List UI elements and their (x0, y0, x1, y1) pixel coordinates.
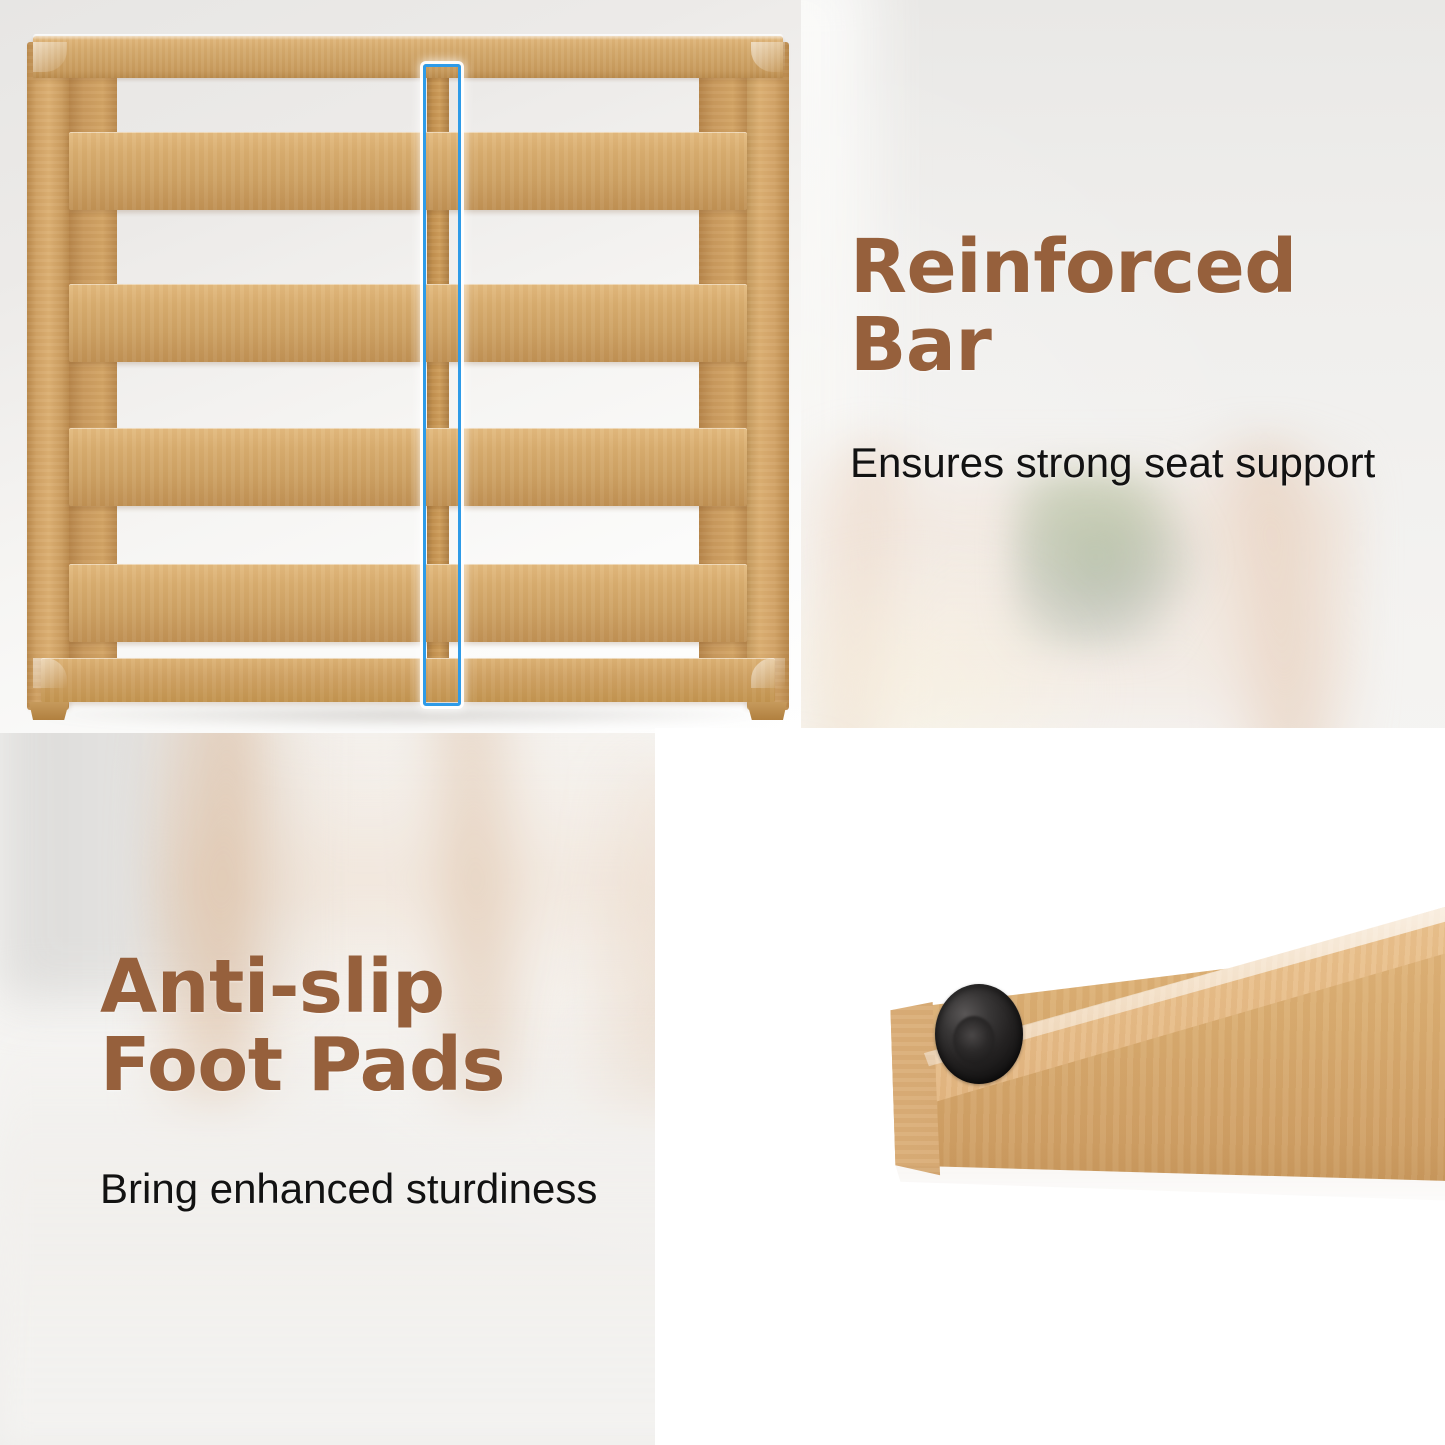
feature-text-reinforced-bar: ReinforcedBar Ensures strong seat suppor… (850, 228, 1410, 487)
feature-heading: Anti-slipFoot Pads (100, 948, 660, 1105)
feature-text-anti-slip-foot-pads: Anti-slipFoot Pads Bring enhanced sturdi… (100, 948, 660, 1213)
top-rail-highlight (33, 34, 783, 40)
foot-pad-rim (933, 982, 1025, 1086)
horizontal-slat (69, 428, 747, 506)
chair-leg-closeup (857, 898, 1445, 1228)
feature-subtitle: Bring enhanced sturdiness (100, 1165, 660, 1213)
horizontal-slat (69, 132, 747, 210)
feature-subtitle: Ensures strong seat support (850, 439, 1410, 487)
blue-highlight-outline (423, 64, 461, 706)
marketing-infographic: ReinforcedBar Ensures strong seat suppor… (0, 0, 1445, 1445)
feature-heading-line1: Anti-slip (100, 944, 445, 1030)
frame-post-left (27, 42, 69, 710)
frame-post-right (747, 42, 789, 710)
frame-foot-left (29, 702, 69, 720)
feature-heading-line1: Reinforced (850, 224, 1297, 310)
chair-back-frame (27, 28, 789, 718)
feature-heading-line2: Foot Pads (100, 1022, 505, 1108)
product-photo-panel-top-left (0, 0, 801, 733)
detail-photo-panel-bottom-right (655, 728, 1445, 1445)
horizontal-slat (69, 284, 747, 362)
horizontal-slat (69, 564, 747, 642)
feature-heading: ReinforcedBar (850, 228, 1410, 385)
top-rail (33, 36, 783, 78)
frame-foot-right (747, 702, 787, 720)
feature-heading-line2: Bar (850, 302, 991, 388)
bottom-stretcher-rail (41, 658, 775, 702)
